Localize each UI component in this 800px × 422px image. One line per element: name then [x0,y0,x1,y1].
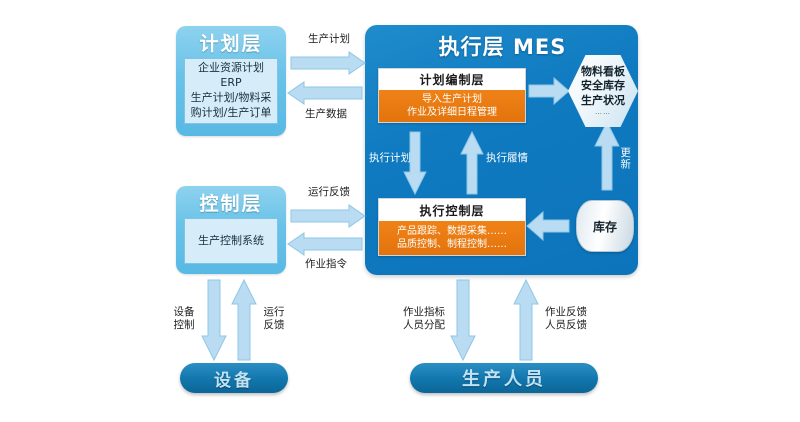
equipment-to-control-label-line-2: 反馈 [258,319,290,332]
control-layer-card: 控制层 生产控制系统 [176,186,286,274]
personnel-node: 生产人员 [410,363,598,393]
mes-internal-down-arrow-label-text: 执行计划 [369,152,411,164]
equipment-to-control-arrow [232,280,256,360]
planning-layer-card: 计划层 企业资源计划 ERP 生产计划/物料采 购计划/生产订单 [176,26,286,136]
plan-to-mes-arrow-label-text: 生产计划 [308,33,350,45]
mes-internal-up-arrow [461,132,483,194]
inventory-update-arrow [595,122,619,190]
plan-to-mes-arrow-label: 生产计划 [292,33,366,46]
planning-compile-header-text: 计划编制层 [419,71,484,88]
equipment-to-control-arrow-label: 运行 反馈 [258,306,290,332]
mes-internal-down-arrow-label: 执行计划 [369,152,405,165]
planning-layer-title-text: 计划层 [199,29,262,56]
control-to-equipment-label-line-1: 设备 [168,306,200,319]
planning-compile-body-line-2: 作业及详细日程管理 [407,106,497,120]
planning-compile-body: 导入生产计划 作业及详细日程管理 [379,90,525,122]
mes-to-control-arrow-label-text: 作业指令 [305,258,347,270]
execution-control-header-text: 执行控制层 [419,202,484,219]
execution-control-body: 产品跟踪、数据采集…… 品质控制、制程控制…… [379,221,525,255]
mes-internal-up-arrow-label: 执行履情 [486,152,522,165]
execution-control-body-line-2: 品质控制、制程控制…… [397,238,507,252]
mes-internal-up-arrow-label-text: 执行履情 [486,152,528,164]
inventory-update-arrow-label: 更新 [618,138,631,178]
planning-layer-line-1: 企业资源计划 [198,61,264,76]
inventory-node-label: 库存 [593,218,617,235]
mes-to-control-arrow [288,233,362,257]
control-to-mes-arrow [291,205,365,229]
control-to-equipment-arrow-label: 设备 控制 [168,306,200,332]
plan-to-mes-arrow [291,52,365,76]
personnel-to-mes-label-line-1: 作业反馈 [540,306,592,319]
control-layer-title-text: 控制层 [199,189,262,216]
control-layer-line-1: 生产控制系统 [198,234,264,249]
kanban-line-1: 物料看板 [581,65,625,79]
mes-to-personnel-arrow-label: 作业指标 人员分配 [398,306,450,332]
control-layer-inner: 生产控制系统 [184,218,278,264]
control-to-mes-arrow-label-text: 运行反馈 [308,186,350,198]
equipment-node-label: 设备 [214,366,254,391]
personnel-to-mes-label-line-2: 人员反馈 [540,319,592,332]
planning-layer-line-4: 购计划/生产订单 [191,106,272,121]
mes-to-personnel-arrow [451,280,475,360]
execution-control-block: 执行控制层 产品跟踪、数据采集…… 品质控制、制程控制…… [378,198,526,256]
planning-layer-line-2: ERP [220,76,241,91]
inventory-update-arrow-label-text: 更新 [619,147,631,170]
planning-layer-inner: 企业资源计划 ERP 生产计划/物料采 购计划/生产订单 [184,58,278,124]
personnel-to-mes-arrow-label: 作业反馈 人员反馈 [540,306,592,332]
planning-layer-title: 计划层 [176,26,286,58]
diagram-canvas: 执行层 MES 计划编制层 导入生产计划 作业及详细日程管理 执行控制层 产品跟… [0,0,800,422]
planning-compile-block: 计划编制层 导入生产计划 作业及详细日程管理 [378,68,526,123]
personnel-to-mes-arrow [514,280,538,360]
control-to-equipment-arrow [202,280,226,360]
kanban-dots: …… [595,108,611,117]
control-to-mes-arrow-label: 运行反馈 [292,186,366,199]
kanban-line-2: 安全库存 [581,79,625,93]
equipment-to-control-label-line-1: 运行 [258,306,290,319]
inventory-node: 库存 [576,200,634,252]
mes-to-control-arrow-label: 作业指令 [289,258,363,271]
mes-to-plan-arrow-label-text: 生产数据 [305,108,347,120]
planning-compile-header: 计划编制层 [379,69,525,90]
mes-to-plan-arrow-label: 生产数据 [289,108,363,121]
mes-to-personnel-label-line-1: 作业指标 [398,306,450,319]
control-to-equipment-label-line-2: 控制 [168,319,200,332]
kanban-line-3: 生产状况 [581,94,625,108]
control-layer-title: 控制层 [176,186,286,218]
execution-control-header: 执行控制层 [379,199,525,221]
planning-compile-body-line-1: 导入生产计划 [422,93,482,107]
equipment-node: 设备 [180,363,288,393]
mes-panel-title-text: 执行层 MES [439,31,567,61]
mes-to-personnel-label-line-2: 人员分配 [398,319,450,332]
personnel-node-label: 生产人员 [462,365,546,391]
inventory-to-execution-arrow [527,212,569,240]
plan-to-kanban-arrow [529,78,569,104]
execution-control-body-line-1: 产品跟踪、数据采集…… [397,225,507,239]
planning-layer-line-3: 生产计划/物料采 [191,91,272,106]
mes-to-plan-arrow [288,82,362,106]
